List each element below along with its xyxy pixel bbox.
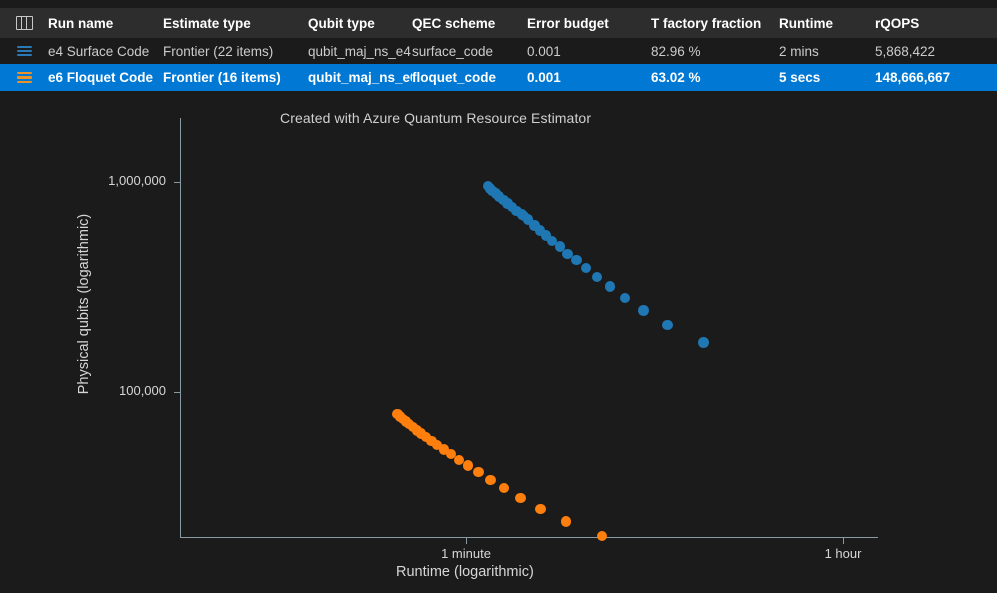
row-drag-handle-cell[interactable] — [0, 46, 48, 57]
table-row[interactable]: e4 Surface Code Frontier (22 items) qubi… — [0, 38, 997, 64]
table-row-selected[interactable]: e6 Floquet Code Frontier (16 items) qubi… — [0, 64, 997, 91]
data-point[interactable] — [473, 467, 483, 477]
cell-estimate-type: Frontier (22 items) — [163, 44, 308, 59]
drag-handle-icon[interactable] — [17, 72, 32, 83]
data-point[interactable] — [662, 320, 672, 330]
x-axis-tick — [843, 537, 844, 544]
data-point[interactable] — [581, 263, 591, 273]
column-header-qubit-type[interactable]: Qubit type — [308, 16, 412, 31]
column-header-error-budget[interactable]: Error budget — [527, 16, 651, 31]
x-axis-tick-label: 1 minute — [406, 546, 526, 561]
cell-error-budget: 0.001 — [527, 44, 651, 59]
data-point[interactable] — [463, 460, 473, 470]
y-axis-tick-label: 1,000,000 — [36, 173, 166, 188]
y-axis-title: Physical qubits (logarithmic) — [76, 194, 92, 414]
column-header-t-factory-fraction[interactable]: T factory fraction — [651, 16, 779, 31]
results-table: Run name Estimate type Qubit type QEC sc… — [0, 8, 997, 91]
data-point[interactable] — [499, 483, 509, 493]
columns-icon[interactable] — [16, 16, 33, 30]
cell-runtime: 5 secs — [779, 70, 875, 85]
column-header-estimate-type[interactable]: Estimate type — [163, 16, 308, 31]
y-axis-tick — [174, 182, 181, 183]
column-header-run-name[interactable]: Run name — [48, 16, 163, 31]
data-point[interactable] — [698, 337, 708, 347]
cell-qubit-type: qubit_maj_ns_e4 — [308, 44, 412, 59]
x-axis-line — [180, 537, 878, 538]
y-axis-tick-label: 100,000 — [36, 383, 166, 398]
column-header-rqops[interactable]: rQOPS — [875, 16, 997, 31]
cell-qec-scheme: surface_code — [412, 44, 527, 59]
x-axis-tick — [466, 537, 467, 544]
cell-runtime: 2 mins — [779, 44, 875, 59]
data-point[interactable] — [561, 516, 571, 526]
data-point[interactable] — [605, 281, 615, 291]
cell-qec-scheme: floquet_code — [412, 70, 527, 85]
data-point[interactable] — [535, 504, 545, 514]
data-point[interactable] — [592, 272, 602, 282]
data-point[interactable] — [485, 475, 495, 485]
cell-t-factory-fraction: 63.02 % — [651, 70, 779, 85]
cell-estimate-type: Frontier (16 items) — [163, 70, 308, 85]
cell-qubit-type: qubit_maj_ns_e6 — [308, 70, 412, 85]
data-point[interactable] — [620, 293, 630, 303]
drag-handle-icon[interactable] — [17, 46, 32, 57]
column-header-qec-scheme[interactable]: QEC scheme — [412, 16, 527, 31]
cell-error-budget: 0.001 — [527, 70, 651, 85]
x-axis-title: Runtime (logarithmic) — [396, 564, 534, 580]
cell-run-name: e6 Floquet Code — [48, 70, 163, 85]
y-axis-line — [180, 118, 181, 538]
cell-rqops: 148,666,667 — [875, 70, 997, 85]
table-header-row: Run name Estimate type Qubit type QEC sc… — [0, 8, 997, 38]
cell-rqops: 5,868,422 — [875, 44, 997, 59]
y-axis-tick — [174, 392, 181, 393]
data-point[interactable] — [638, 305, 648, 315]
data-point[interactable] — [597, 531, 607, 541]
scatter-chart: Created with Azure Quantum Resource Esti… — [0, 96, 997, 593]
x-axis-tick-label: 1 hour — [783, 546, 903, 561]
data-point[interactable] — [515, 493, 525, 503]
cell-t-factory-fraction: 82.96 % — [651, 44, 779, 59]
column-chooser-cell[interactable] — [0, 16, 48, 30]
data-point[interactable] — [571, 255, 581, 265]
row-drag-handle-cell[interactable] — [0, 72, 48, 83]
column-header-runtime[interactable]: Runtime — [779, 16, 875, 31]
app-root: Run name Estimate type Qubit type QEC sc… — [0, 0, 997, 593]
cell-run-name: e4 Surface Code — [48, 44, 163, 59]
chart-title: Created with Azure Quantum Resource Esti… — [280, 110, 591, 126]
